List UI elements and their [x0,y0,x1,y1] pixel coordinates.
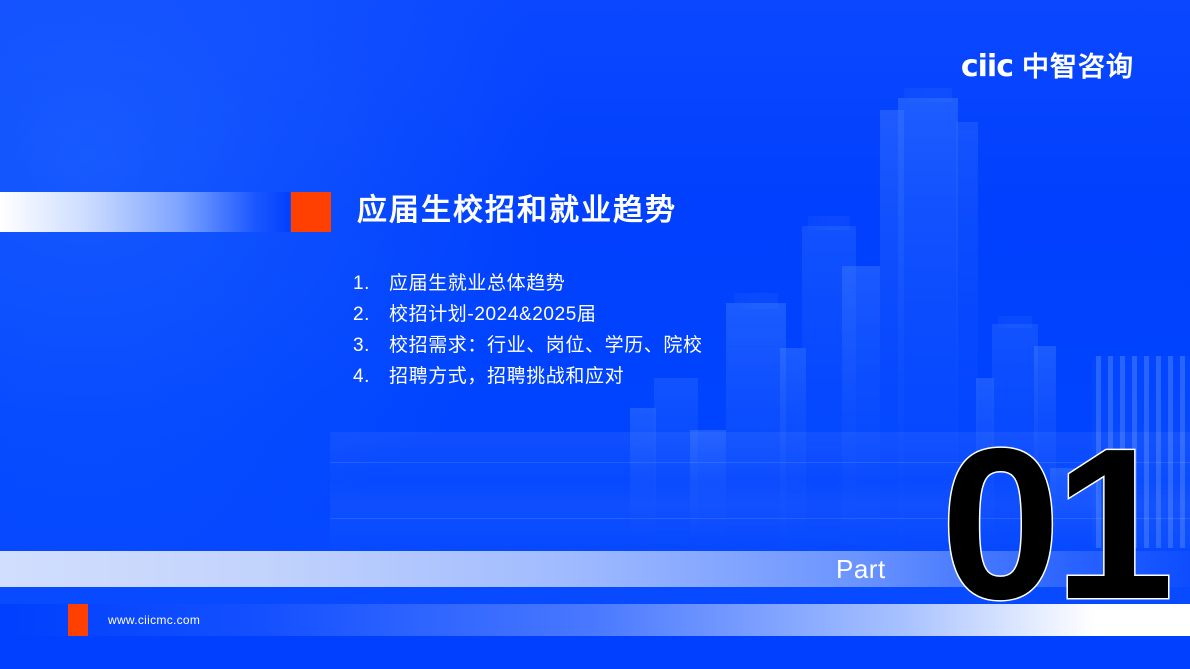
brand-logo: ciic 中智咨询 [961,48,1134,86]
list-item-label: 校招需求：行业、岗位、学历、院校 [389,330,703,361]
part-label: Part [836,554,886,584]
list-item-number: 3. [353,330,389,361]
list-item-label: 校招计划-2024&2025届 [389,299,597,330]
list-item[interactable]: 2. 校招计划-2024&2025届 [353,299,773,330]
list-item-number: 1. [353,268,389,299]
section-divider-slide: ciic 中智咨询 应届生校招和就业趋势 1. 应届生就业总体趋势 2. 校招计… [0,0,1190,669]
list-item-label: 招聘方式，招聘挑战和应对 [389,361,624,392]
ciic-logo-icon: ciic [961,52,1013,82]
list-item[interactable]: 4. 招聘方式，招聘挑战和应对 [353,361,773,392]
footer-website-url[interactable]: www.ciicmc.com [108,613,200,628]
agenda-list: 1. 应届生就业总体趋势 2. 校招计划-2024&2025届 3. 校招需求：… [353,268,773,392]
list-item-label: 应届生就业总体趋势 [389,268,565,299]
footer-accent-square [68,604,88,636]
list-item-number: 2. [353,299,389,330]
title-gradient-bar [0,192,290,232]
title-accent-square [291,192,331,232]
list-item[interactable]: 3. 校招需求：行业、岗位、学历、院校 [353,330,773,361]
list-item-number: 4. [353,361,389,392]
page-title: 应届生校招和就业趋势 [357,189,677,233]
section-number: 01 [941,416,1168,631]
brand-name-label: 中智咨询 [1022,54,1134,81]
list-item[interactable]: 1. 应届生就业总体趋势 [353,268,773,299]
